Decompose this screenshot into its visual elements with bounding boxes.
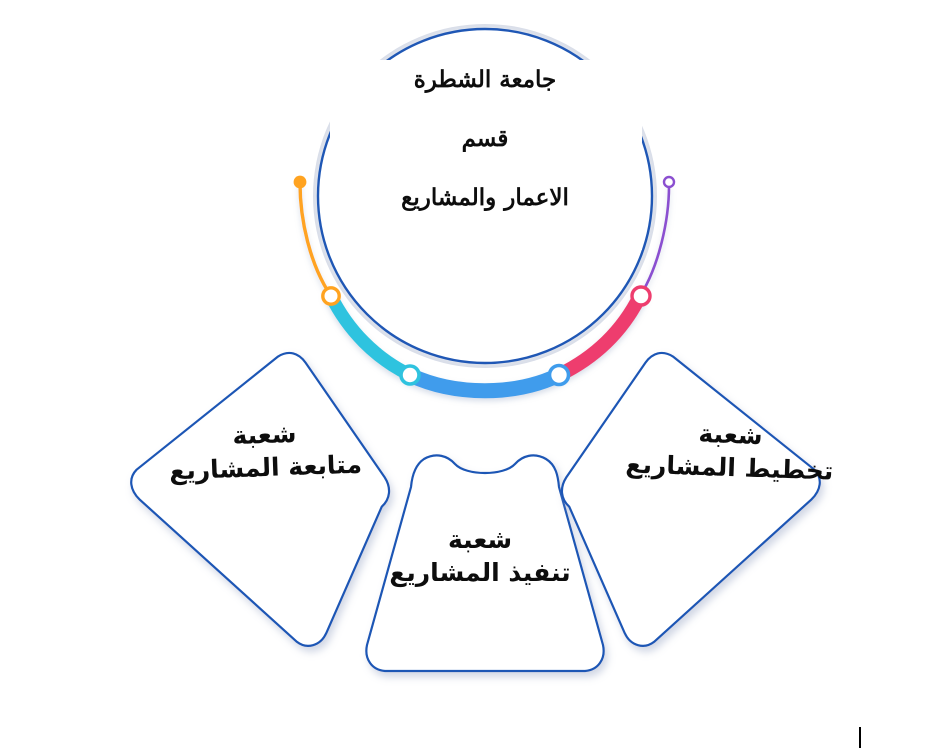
branch-shape-follow[interactable] [123,347,400,658]
cyan-node[interactable] [401,366,419,384]
arc-segment-blue[interactable] [410,375,559,391]
diagram-canvas: جامعة الشطرة قسم الاعمار والمشاريع شعبة … [0,0,951,748]
blue-node[interactable] [550,366,569,385]
pink-node[interactable] [632,287,650,305]
hub-text-backdrop [330,60,642,250]
orange-node[interactable] [323,288,339,304]
radial-chart-graphic [0,0,951,748]
orange-endpoint-dot[interactable] [294,176,307,189]
purple-endpoint-dot[interactable] [664,177,674,187]
text-caret [859,727,861,748]
